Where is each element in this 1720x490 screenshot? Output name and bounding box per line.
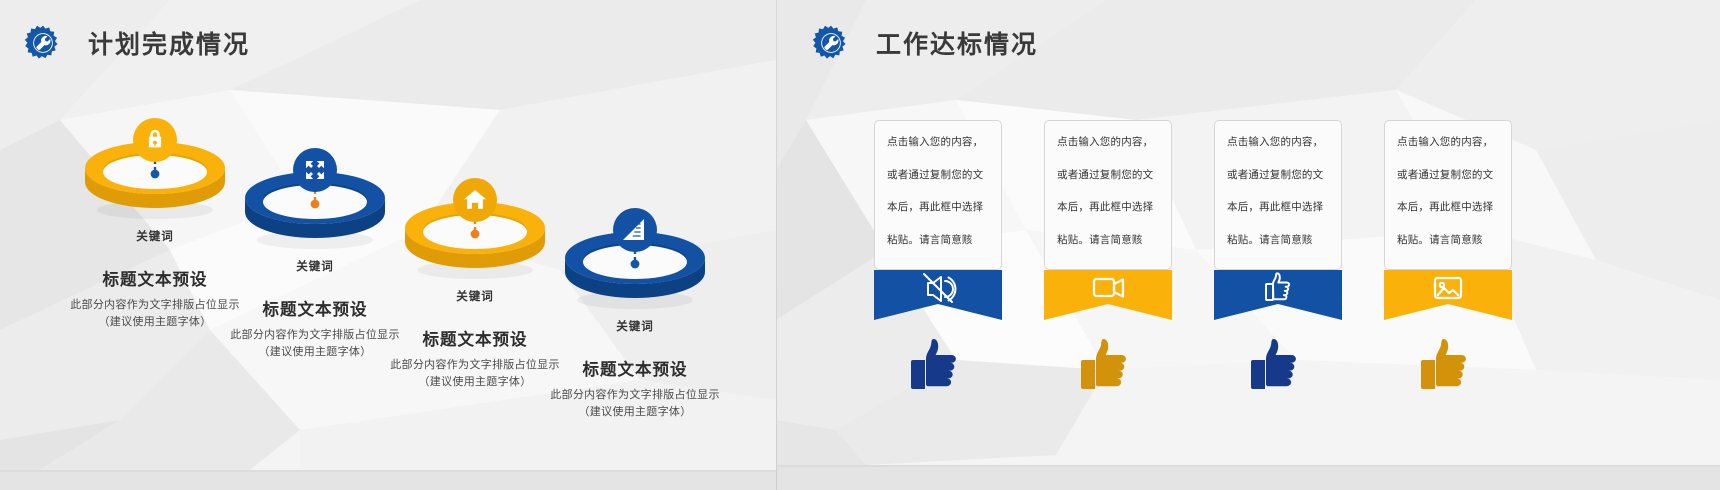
info-card-2-line-2: 或者通过复制您的文 — [1057, 170, 1159, 181]
info-card-3-text-box: 点击输入您的内容， 或者通过复制您的文 本后，再此框中选择 粘贴。请言简意赅 — [1214, 120, 1342, 270]
ring-graphic-blue-ruler — [561, 208, 709, 312]
info-card-1-line-1: 点击输入您的内容， — [887, 137, 989, 148]
gear-wrench-icon — [24, 24, 62, 62]
info-card-1-line-2: 或者通过复制您的文 — [887, 170, 989, 181]
info-card-2-thumbs-up — [1044, 336, 1172, 398]
info-card-2-line-1: 点击输入您的内容， — [1057, 137, 1159, 148]
info-card-1-line-3: 本后，再此框中选择 — [887, 202, 989, 213]
info-card-3-thumbs-up — [1214, 336, 1342, 398]
info-card-4-line-4: 粘贴。请言简意赅 — [1397, 235, 1499, 246]
info-card-4-line-1: 点击输入您的内容， — [1397, 137, 1499, 148]
ring-body-4: 此部分内容作为文字排版占位显示 （建议使用主题字体） — [500, 387, 770, 421]
ring-keyword-4: 关键词 — [500, 318, 770, 334]
info-card-3-ribbon — [1214, 270, 1342, 320]
info-card-4-text-box: 点击输入您的内容， 或者通过复制您的文 本后，再此框中选择 粘贴。请言简意赅 — [1384, 120, 1512, 270]
info-card-2-text-box: 点击输入您的内容， 或者通过复制您的文 本后，再此框中选择 粘贴。请言简意赅 — [1044, 120, 1172, 270]
page-title-right: 工作达标情况 — [876, 25, 1038, 61]
header-work-achievement: 工作达标情况 — [812, 24, 1038, 62]
info-card-2[interactable]: 点击输入您的内容， 或者通过复制您的文 本后，再此框中选择 粘贴。请言简意赅 — [1044, 120, 1172, 398]
info-card-4[interactable]: 点击输入您的内容， 或者通过复制您的文 本后，再此框中选择 粘贴。请言简意赅 — [1384, 120, 1512, 398]
slide-pair-canvas: 计划完成情况 关键词 标题文本预设 — [0, 0, 1720, 490]
info-card-1[interactable]: 点击输入您的内容， 或者通过复制您的文 本后，再此框中选择 粘贴。请言简意赅 — [874, 120, 1002, 398]
info-card-1-thumbs-up — [874, 336, 1002, 398]
slide-work-achievement: 工作达标情况 点击输入您的内容， 或者通过复制您的文 本后，再此框中选择 粘贴。… — [776, 0, 1720, 490]
info-card-4-line-2: 或者通过复制您的文 — [1397, 170, 1499, 181]
info-card-1-line-4: 粘贴。请言简意赅 — [887, 235, 989, 246]
info-card-3[interactable]: 点击输入您的内容， 或者通过复制您的文 本后，再此框中选择 粘贴。请言简意赅 — [1214, 120, 1342, 398]
ring-title-4: 标题文本预设 — [500, 356, 770, 380]
ring-body-4-line1: 此部分内容作为文字排版占位显示 — [500, 387, 770, 404]
info-card-2-ribbon — [1044, 270, 1172, 320]
slide-plan-completion: 计划完成情况 关键词 标题文本预设 — [0, 0, 776, 490]
info-card-4-line-3: 本后，再此框中选择 — [1397, 202, 1499, 213]
page-title-left: 计划完成情况 — [88, 25, 250, 61]
gear-wrench-icon — [812, 24, 850, 62]
info-card-2-line-4: 粘贴。请言简意赅 — [1057, 235, 1159, 246]
info-card-1-ribbon — [874, 270, 1002, 320]
info-card-4-ribbon — [1384, 270, 1512, 320]
info-card-1-text-box: 点击输入您的内容， 或者通过复制您的文 本后，再此框中选择 粘贴。请言简意赅 — [874, 120, 1002, 270]
info-card-2-line-3: 本后，再此框中选择 — [1057, 202, 1159, 213]
header-plan-completion: 计划完成情况 — [24, 24, 250, 62]
info-card-4-thumbs-up — [1384, 336, 1512, 398]
ring-item-4[interactable]: 关键词 标题文本预设 此部分内容作为文字排版占位显示 （建议使用主题字体） — [500, 208, 770, 421]
info-card-3-line-1: 点击输入您的内容， — [1227, 137, 1329, 148]
info-card-3-line-2: 或者通过复制您的文 — [1227, 170, 1329, 181]
info-card-3-line-3: 本后，再此框中选择 — [1227, 202, 1329, 213]
info-card-3-line-4: 粘贴。请言简意赅 — [1227, 235, 1329, 246]
ring-body-4-line2: （建议使用主题字体） — [500, 404, 770, 421]
